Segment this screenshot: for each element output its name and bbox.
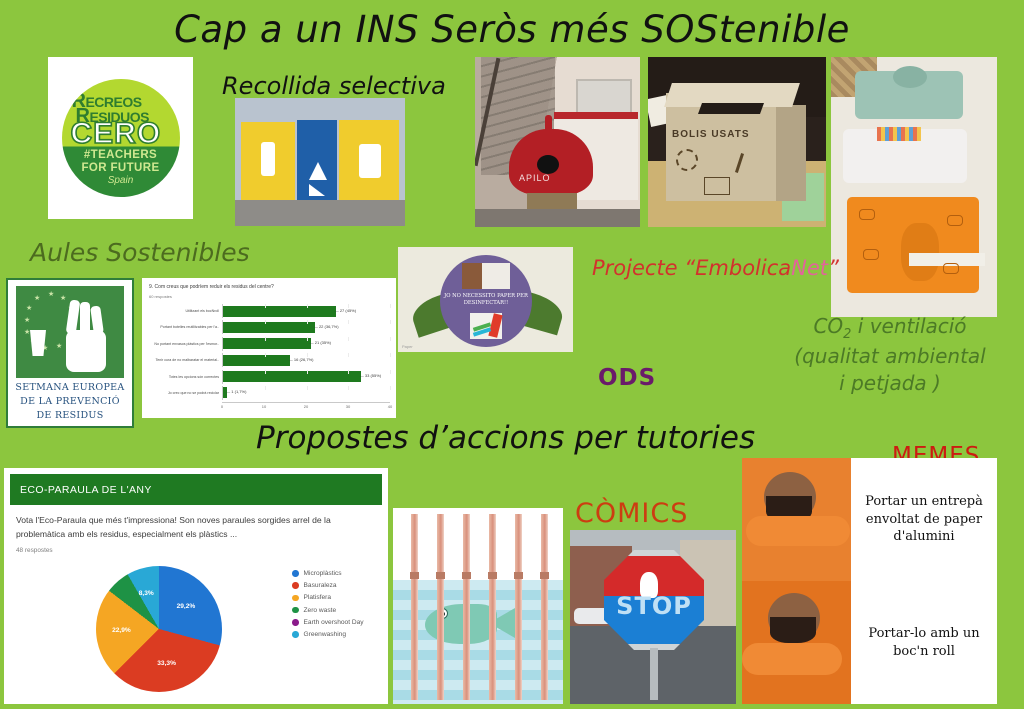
bar-category-label: No portant envasos plàstics per l'esmor.… [148,342,222,346]
meme-drake-format: Portar un entrepà envoltat de paper d'al… [742,458,997,704]
bar-category-label: Utilitzant els bocNroll [148,309,222,313]
cloth-wrap-orange [847,197,979,293]
sun-drawing-icon [676,149,698,171]
label-propostes-accions: Propostes d’accions per tutories [256,420,755,456]
bar-track: — 21 (35%) [222,337,390,351]
eu-star-icon: ★ [24,328,30,336]
gridline [390,353,391,357]
hand-finger [66,330,106,372]
label-projecte-embolicanet: Projecte “EmbolicaNet” [592,256,839,280]
bar-category-label: Portant botelles reutilitzables per l'a.… [148,325,222,329]
container-finial [545,115,552,133]
gridline [390,337,391,341]
bar-value-label: — 1 (1,7%) [226,389,246,394]
meme-panel-bottom: Portar-lo amb un boc'n roll [742,581,997,704]
logo-setmana-europea-prevencio-residus: ★ ★ ★ ★ ★ ★ ★ ★ ★ ★ ★ ★ SETMANA EUROPEA … [6,278,134,428]
x-axis: 010203040 [222,402,390,412]
gridline [307,370,308,374]
straw-bar [437,514,444,700]
meme-panel-top: Portar un entrepà envoltat de paper d'al… [742,458,997,581]
logo-line3: DE RESIDUS [8,410,132,421]
bar-fill [223,355,290,366]
cup-icon [30,330,46,356]
straw-bar [515,514,522,700]
legend-swatch [292,607,299,614]
straw-joint [410,572,419,579]
photo-cloth-wrapped-sandwiches [831,57,997,317]
box-side [776,105,806,201]
bar-value-label: — 27 (45%) [335,308,356,313]
gridline [265,386,266,390]
pie-slice-label: 29,2% [177,603,196,610]
x-tick-label: 30 [346,404,350,409]
person-arm [742,643,842,675]
pie-chart: 29,2%33,3%22,9%8,3% [96,566,222,692]
pie-slice-label: 22,9% [112,627,131,634]
straw-bar [411,514,418,700]
bin-blue-center [297,120,337,200]
bar-category-label: Totes les opcions són correctes [148,375,222,379]
legend-swatch [292,570,299,577]
person-arm [746,516,850,546]
sign-pole [650,648,658,700]
legend-label: Basuraleza [304,582,337,589]
eco-paraula-pie-card: ECO-PARAULA DE L'ANY Vota l'Eco-Paraula … [4,468,388,704]
legend-item: Platisfera [292,594,364,601]
purple-circle: JO NO NECESSITO PAPER PER DESINFECTAR!! [440,255,532,347]
gridline [390,320,391,324]
bar-row: No portant envasos plàstics per l'esmor.… [148,337,390,351]
bar-track: — 33 (55%) [222,370,390,384]
photo-used-pens-box: BOLIS USATS [648,57,826,227]
gridline [265,304,266,308]
legend-label: Greenwashing [304,631,347,638]
label-co2-ventilacio: CO2 i ventilació(qualitat ambientali pet… [760,313,1020,396]
bar-fill [223,322,315,333]
logo-green-panel: ★ ★ ★ ★ ★ ★ ★ ★ ★ ★ ★ ★ [16,286,124,378]
bar-track: — 27 (45%) [222,304,390,318]
card-header: ECO-PARAULA DE L'ANY [10,474,382,505]
bar-fill [223,338,311,349]
box-label-text: BOLIS USATS [672,129,749,140]
logo-hashtag: #TEACHERSFOR FUTURE [62,149,180,175]
straw-bar [463,514,470,700]
pie-slice-label: 8,3% [139,590,154,597]
gridline [348,353,349,357]
bar-value-label: — 21 (35%) [310,340,331,345]
legend-label: Zero waste [304,607,337,614]
hand-illustration [60,300,114,376]
x-tick-label: 40 [388,404,392,409]
motif [943,263,959,274]
eu-star-icon: ★ [34,294,40,302]
person-beard [770,617,816,643]
motif [863,249,879,260]
bar-chart-plot: Utilitzant els bocNroll— 27 (45%)Portant… [148,304,390,414]
logo-country: Spain [62,175,180,186]
logo-recreos-residuos-cero: RECREOS RESIDUOS CERO #TEACHERSFOR FUTUR… [48,57,193,219]
meme-top-textbox: Portar un entrepà envoltat de paper d'al… [851,458,997,581]
gridline [390,370,391,374]
eu-star-icon: ★ [26,304,32,312]
logo-line1: SETMANA EUROPEA [8,382,132,393]
legend-label: Earth overshoot Day [304,619,364,626]
bottle-icon [261,142,275,176]
container-opening [537,155,559,174]
gridline [348,320,349,324]
gridline [265,337,266,341]
gridline [390,304,391,308]
photo-selective-collection-bins [235,98,405,226]
apilo-text: APILO [519,173,551,183]
gridline [307,386,308,390]
chart-response-count: 60 respostes [149,294,172,299]
label-ods: ODS [598,365,656,391]
stripe-pattern [877,127,921,141]
survey-bar-chart-card: 9. Com creus que podríem reduir els resi… [142,278,396,418]
bar-value-label: — 33 (55%) [360,373,381,378]
label-comics: CÒMICS [575,498,688,529]
bar-row: Jo crec que no se podrà reciclar— 1 (1,7… [148,386,390,400]
legend-label: Microplàstics [304,570,342,577]
bar-track: — 22 (36,7%) [222,320,390,334]
photo-stop-sign-comic: STOP [570,530,736,704]
box-slot [698,103,764,114]
chart-question: Vota l'Eco-Paraula que més t'impressiona… [16,514,374,542]
legend-item: Microplàstics [292,570,364,577]
gridline [348,337,349,341]
page-title: Cap a un INS Seròs més SOStenible [0,8,1024,51]
recycle-arrow-icon [309,162,327,180]
bar-row: Tenir cura de no malbaratar el material.… [148,353,390,367]
legend-item: Greenwashing [292,631,364,638]
gridline [307,320,308,324]
logo-circle: RECREOS RESIDUOS CERO #TEACHERSFOR FUTUR… [62,79,180,197]
label-aules-sostenibles: Aules Sostenibles [30,238,250,267]
straw-joint [540,572,549,579]
floor [235,200,405,226]
chart-response-count: 48 respostes [16,547,53,554]
square-drawing-icon [704,177,730,195]
straw-bar [489,514,496,700]
legend-swatch [292,631,299,638]
fish [425,604,497,644]
carton-icon [359,144,381,178]
bar-row: Portant botelles reutilitzables per l'a.… [148,320,390,334]
floor [475,209,640,227]
bar-category-label: Jo crec que no se podrà reciclar [148,391,222,395]
logo-line2: DE LA PREVENCIÓ [8,396,132,407]
bar-value-label: — 22 (36,7%) [314,324,339,329]
gridline [265,353,266,357]
cloth-wrap-green [855,71,963,119]
knot [893,66,927,88]
knot [901,223,939,281]
straw-joint [462,572,471,579]
straw-joint [488,572,497,579]
legend-swatch [292,595,299,602]
legend-label: Platisfera [304,594,332,601]
spray-bottle-icon [470,313,502,339]
gridline [348,370,349,374]
pie-legend: MicroplàsticsBasuralezaPlatisferaZero wa… [292,570,364,643]
pie-slice-label: 33,3% [157,660,176,667]
motif [947,215,963,226]
poster-canvas: Cap a un INS Seròs més SOStenible RECREO… [0,0,1024,709]
motif [859,209,875,220]
x-tick-label: 20 [304,404,308,409]
label-recollida-selectiva: Recollida selectiva [222,72,446,100]
x-tick-label: 10 [262,404,266,409]
gridline [307,304,308,308]
legend-item: Earth overshoot Day [292,619,364,626]
no-paper-text: JO NO NECESSITO PAPER PER DESINFECTAR!! [444,293,528,308]
bar-track: — 16 (26,7%) [222,353,390,367]
bar-track: — 1 (1,7%) [222,386,390,400]
chart-question: 9. Com creus que podríem reduir els resi… [149,284,274,290]
meme-bottom-textbox: Portar-lo amb un boc'n roll [851,581,997,704]
straw-joint [436,572,445,579]
legend-item: Basuraleza [292,582,364,589]
gridline [390,386,391,390]
bar-fill [223,371,361,382]
paper-roll-photo [462,263,510,289]
photo-fish-behind-straws-comic [393,508,563,704]
gridline [265,320,266,324]
bar-row: Totes les opcions són correctes— 33 (55%… [148,370,390,384]
hand [462,263,482,289]
eu-star-icon: ★ [48,290,54,298]
photo-apilo-battery-container: APILO [475,57,640,227]
legend-swatch [292,582,299,589]
straw-bar [541,514,548,700]
straw-joint [514,572,523,579]
bar-fill [223,306,336,317]
eu-star-icon: ★ [24,316,30,324]
photo-no-paper-needed: JO NO NECESSITO PAPER PER DESINFECTAR!! … [398,247,573,352]
stop-text: STOP [604,592,704,620]
gridline [307,337,308,341]
gridline [265,370,266,374]
gridline [348,386,349,390]
legend-item: Zero waste [292,607,364,614]
x-tick-label: 0 [221,404,223,409]
logo-cero: CERO [71,117,162,151]
bar-row: Utilitzant els bocNroll— 27 (45%) [148,304,390,318]
watermark: Paper [402,344,413,349]
legend-swatch [292,619,299,626]
bar-value-label: — 16 (26,7%) [289,357,314,362]
bar-category-label: Tenir cura de no malbaratar el material.… [148,358,222,362]
cloth-wrap-white [843,129,967,183]
